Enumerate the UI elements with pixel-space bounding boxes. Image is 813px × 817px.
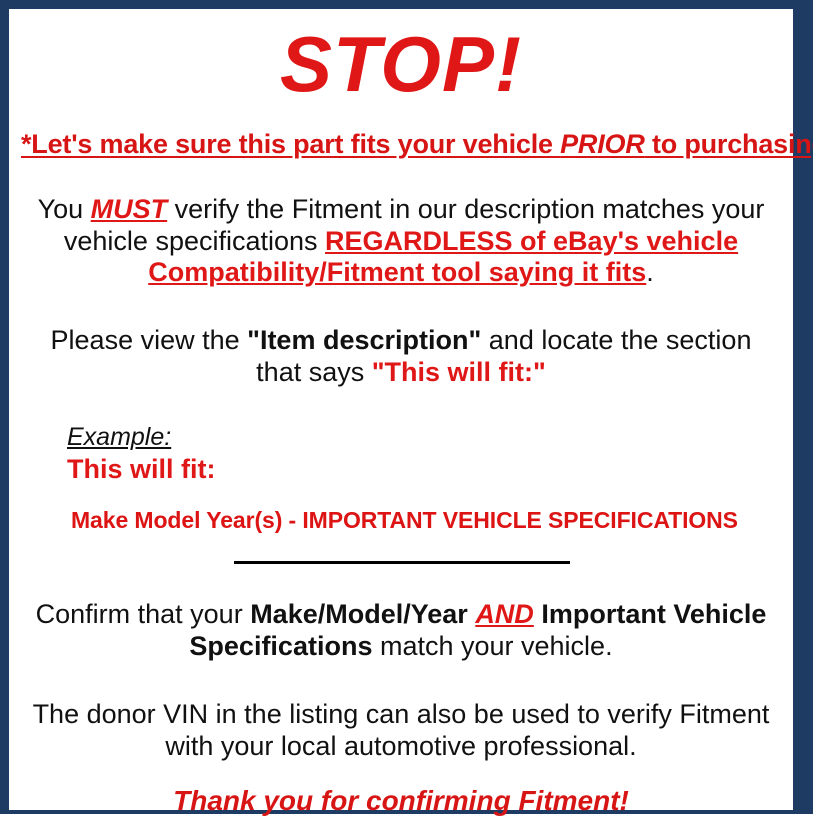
stop-title: STOP! (21, 25, 781, 103)
must-part1: You (38, 194, 91, 224)
item-description-emphasis: "Item description" (247, 325, 481, 355)
fitment-notice-body: STOP! *Let's make sure this part fits yo… (9, 25, 793, 810)
fitment-notice-frame: STOP! *Let's make sure this part fits yo… (0, 0, 813, 814)
example-label: Example: (67, 423, 781, 452)
must-emphasis: MUST (91, 194, 168, 224)
vin-paragraph: The donor VIN in the listing can also be… (21, 699, 781, 763)
and-emphasis: AND (475, 599, 534, 629)
thank-you-message: Thank you for confirming Fitment! (21, 785, 781, 817)
divider-wrapper (21, 557, 781, 569)
tagline-emphasis-prior: PRIOR (560, 129, 645, 159)
make-model-year-emphasis: Make/Model/Year (250, 599, 468, 629)
tagline: *Let's make sure this part fits your veh… (21, 130, 781, 160)
example-spec-line: Make Model Year(s) - IMPORTANT VEHICLE S… (67, 507, 781, 533)
must-verify-paragraph: You MUST verify the Fitment in our descr… (21, 194, 781, 290)
horizontal-divider (234, 561, 570, 564)
confirm-part2: match your vehicle. (372, 631, 612, 661)
view-part1: Please view the (51, 325, 248, 355)
example-fit-heading: This will fit: (67, 454, 781, 485)
this-will-fit-emphasis: "This will fit:" (372, 357, 546, 387)
must-part3: . (646, 257, 654, 287)
tagline-before: *Let's make sure this part fits your veh… (21, 129, 560, 159)
example-block: Example: This will fit: Make Model Year(… (21, 423, 781, 533)
tagline-after: to purchasing* (645, 129, 813, 159)
confirm-paragraph: Confirm that your Make/Model/Year AND Im… (21, 599, 781, 663)
view-description-paragraph: Please view the "Item description" and l… (21, 325, 781, 389)
confirm-part1: Confirm that your (36, 599, 251, 629)
